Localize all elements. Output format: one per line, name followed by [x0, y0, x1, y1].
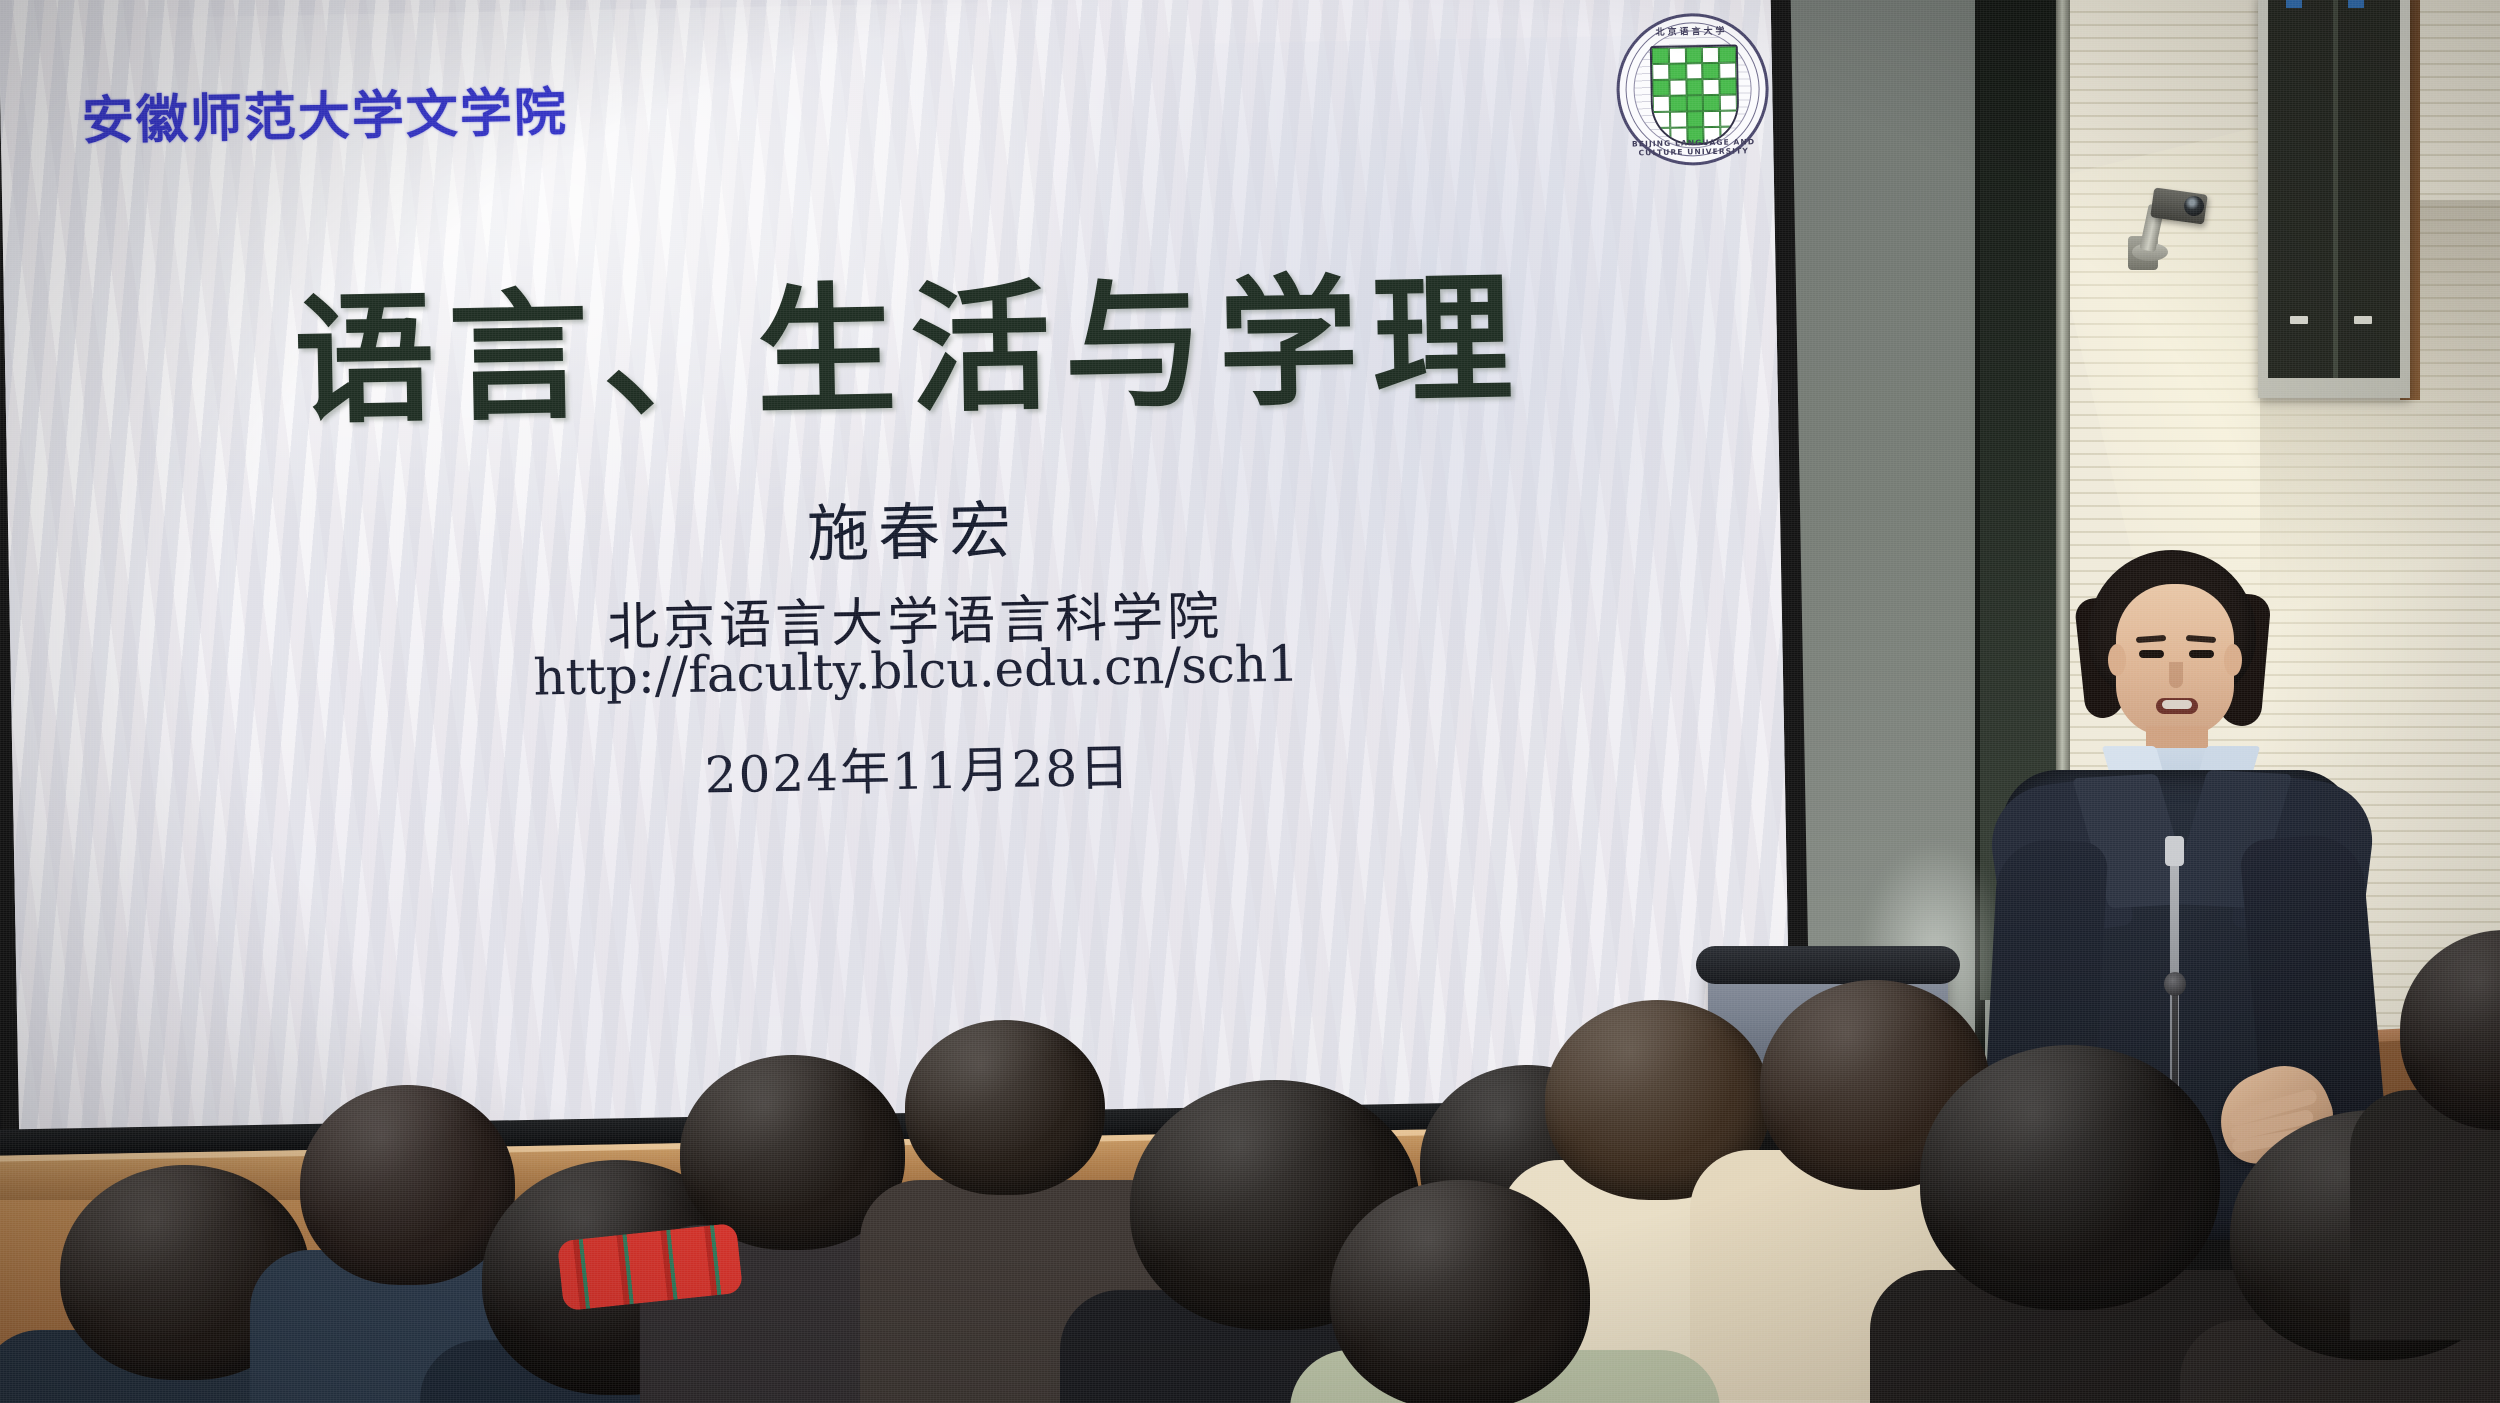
seal-cell [1703, 95, 1720, 111]
niche-inner [2268, 0, 2400, 378]
seal-cell [1703, 79, 1720, 95]
slide-main-title: 语言、生活与学理 [22, 221, 1797, 455]
presenter-eye-left [2139, 650, 2164, 658]
seal-cell [1703, 111, 1720, 127]
seal-cell [1687, 111, 1704, 127]
presenter [1940, 540, 2460, 1260]
seal-cell [1669, 47, 1686, 63]
niche-accent-right [2348, 0, 2364, 8]
slide-org-title: 安徽师范大学文学院 [81, 70, 568, 154]
seal-cell [1670, 111, 1687, 127]
seal-cell [1652, 64, 1669, 80]
slide-date: 2024年11月28日 [31, 715, 1804, 819]
seal-shield-icon [1650, 44, 1740, 146]
seal-text-english: BEIJING LANGUAGE AND CULTURE UNIVERSITY [1617, 137, 1769, 158]
microphone-stand [2172, 984, 2178, 1224]
presenter-nose [2169, 662, 2183, 688]
seal-cell [1652, 48, 1669, 64]
seal-cell [1669, 63, 1686, 79]
wall-niche-panel [2258, 0, 2410, 398]
floor [0, 1200, 1000, 1403]
seal-cell [1720, 79, 1737, 95]
seal-cell [1653, 96, 1670, 112]
seal-cell [1652, 80, 1669, 96]
seal-cell [1720, 95, 1737, 111]
seal-cell [1703, 63, 1720, 79]
seal-cell [1685, 47, 1702, 63]
niche-divider [2333, 0, 2338, 378]
name-card: 主讲 [951, 1122, 1067, 1192]
office-chair-rim [1696, 946, 1960, 984]
lecture-photo: 安徽师范大学文学院 北京语言大学 BEIJING LANGUAGE AND CU… [0, 0, 2500, 1403]
seal-shield-grid [1652, 47, 1738, 145]
niche-accent-left [2286, 0, 2302, 8]
presenter-ear-right [2224, 644, 2242, 676]
seal-cell [1686, 79, 1703, 95]
seal-cell [1702, 47, 1719, 63]
seal-cell [1653, 112, 1670, 128]
slide-content: 安徽师范大学文学院 北京语言大学 BEIJING LANGUAGE AND CU… [18, 0, 1811, 1158]
seal-cell [1720, 111, 1737, 127]
microphone-icon [2164, 972, 2186, 996]
seal-cell [1686, 63, 1703, 79]
presenter-zipper-pull [2165, 836, 2184, 866]
presenter-eye-right [2189, 650, 2214, 658]
niche-led-left [2290, 316, 2308, 324]
seal-cell [1719, 47, 1736, 63]
seal-cell [1686, 95, 1703, 111]
seal-text-chinese: 北京语言大学 [1615, 23, 1767, 39]
seal-cell [1669, 79, 1686, 95]
office-chair-seat [1742, 1060, 1918, 1106]
name-card-text: 主讲 [976, 1134, 1041, 1180]
seal-cell [1669, 95, 1686, 111]
niche-led-right [2354, 316, 2372, 324]
seal-cell [1719, 63, 1736, 79]
blcu-seal-icon: 北京语言大学 BEIJING LANGUAGE AND CULTURE UNIV… [1615, 12, 1770, 167]
presenter-ear-left [2108, 644, 2126, 676]
presenter-teeth [2162, 700, 2192, 709]
